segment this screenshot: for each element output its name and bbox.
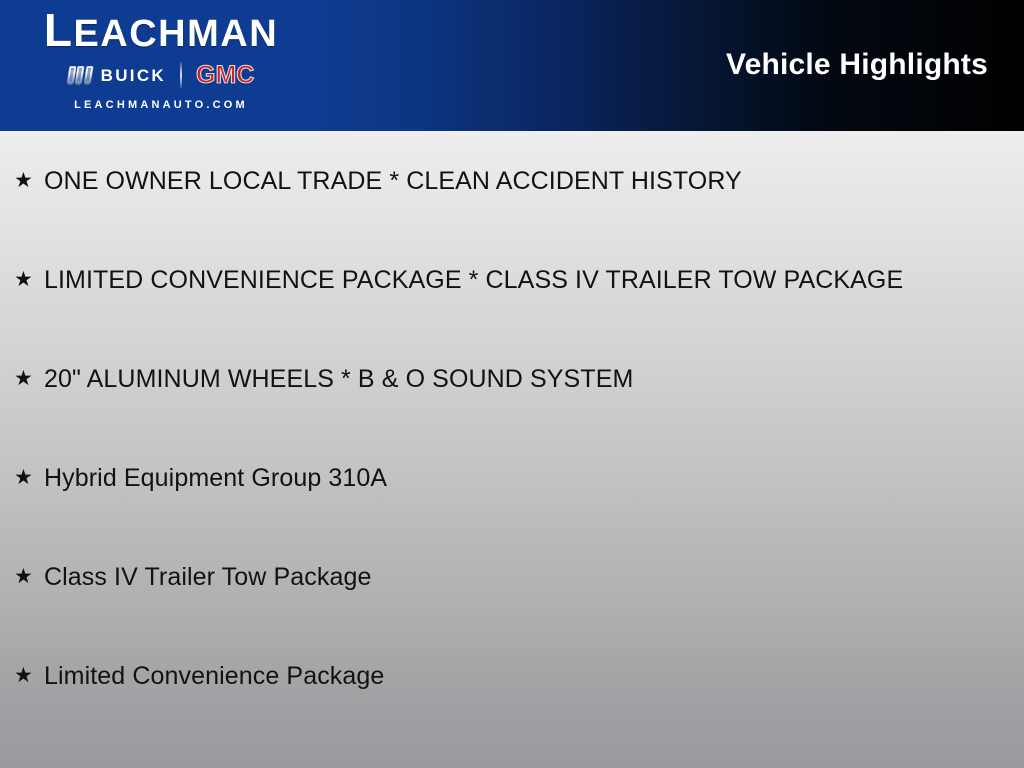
highlights-panel: ★ONE OWNER LOCAL TRADE * CLEAN ACCIDENT … <box>0 131 1024 768</box>
brand-divider <box>180 62 182 88</box>
buick-brand-label: BUICK <box>101 67 166 84</box>
dealer-website-url[interactable]: LEACHMANAUTO.COM <box>0 98 322 112</box>
list-item: ★20" ALUMINUM WHEELS * B & O SOUND SYSTE… <box>0 362 1024 396</box>
highlight-text: 20" ALUMINUM WHEELS * B & O SOUND SYSTEM <box>44 362 934 396</box>
brand-badge-row: BUICK GMC <box>0 60 322 90</box>
vehicle-highlights-list: ★ONE OWNER LOCAL TRADE * CLEAN ACCIDENT … <box>0 164 1024 693</box>
star-bullet-icon: ★ <box>14 362 44 396</box>
shield-icon <box>83 66 93 85</box>
list-item: ★ONE OWNER LOCAL TRADE * CLEAN ACCIDENT … <box>0 164 1024 198</box>
page-header: LEACHMAN BUICK GMC LEACHMANAUTO.COM Vehi… <box>0 0 1024 131</box>
highlight-text: Hybrid Equipment Group 310A <box>44 461 934 495</box>
dealer-wordmark: LEACHMAN <box>0 8 322 56</box>
highlight-text: Class IV Trailer Tow Package <box>44 560 934 594</box>
list-item: ★Class IV Trailer Tow Package <box>0 560 1024 594</box>
wordmark-rest: EACHMAN <box>73 13 278 55</box>
star-bullet-icon: ★ <box>14 164 44 198</box>
star-bullet-icon: ★ <box>14 461 44 495</box>
wordmark-lead-letter: L <box>44 4 74 56</box>
highlight-text: ONE OWNER LOCAL TRADE * CLEAN ACCIDENT H… <box>44 164 934 198</box>
page-title: Vehicle Highlights <box>726 48 988 82</box>
highlight-text: Limited Convenience Package <box>44 659 934 693</box>
list-item: ★LIMITED CONVENIENCE PACKAGE * CLASS IV … <box>0 263 1024 297</box>
buick-tri-shield-icon <box>68 65 92 85</box>
dealer-logo[interactable]: LEACHMAN BUICK GMC LEACHMANAUTO.COM <box>0 0 322 131</box>
gmc-brand-label: GMC <box>196 63 254 88</box>
star-bullet-icon: ★ <box>14 560 44 594</box>
vehicle-highlights-page: LEACHMAN BUICK GMC LEACHMANAUTO.COM Vehi… <box>0 0 1024 768</box>
list-item: ★Limited Convenience Package <box>0 659 1024 693</box>
star-bullet-icon: ★ <box>14 659 44 693</box>
highlight-text: LIMITED CONVENIENCE PACKAGE * CLASS IV T… <box>44 263 934 297</box>
list-item: ★Hybrid Equipment Group 310A <box>0 461 1024 495</box>
star-bullet-icon: ★ <box>14 263 44 297</box>
